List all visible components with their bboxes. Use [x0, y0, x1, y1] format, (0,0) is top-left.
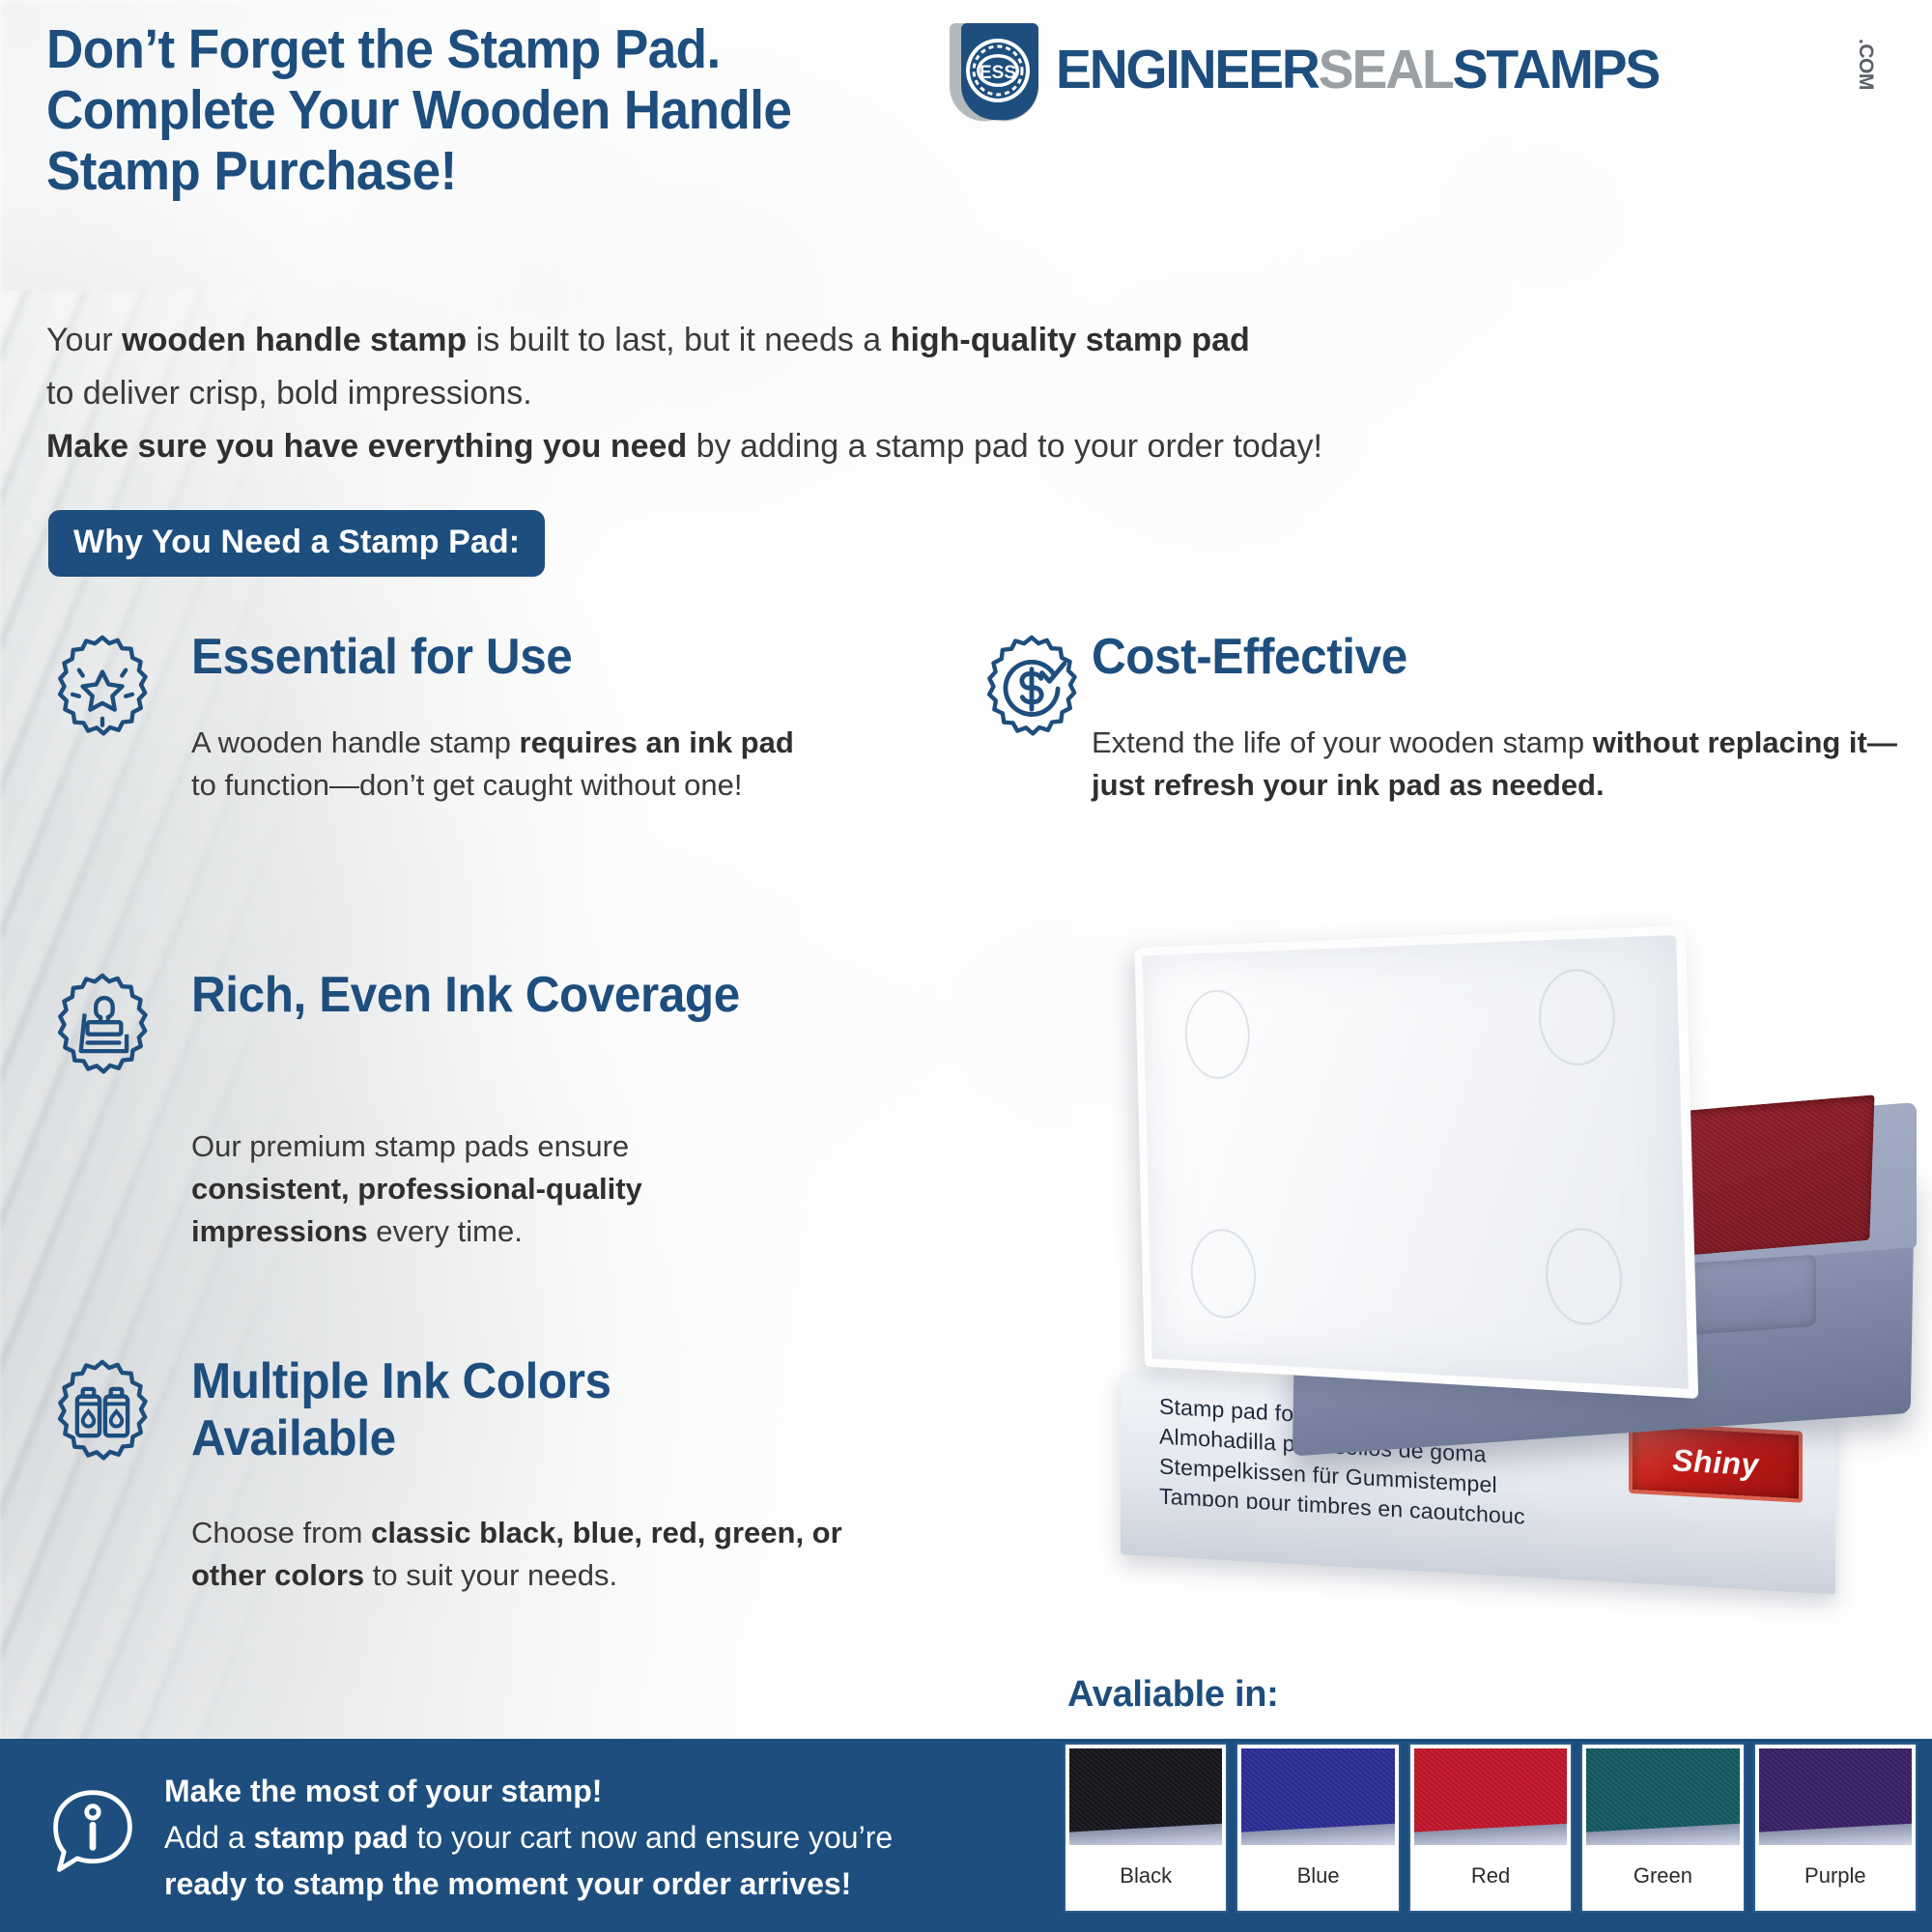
swatch-color-chip	[1586, 1748, 1739, 1845]
logo-wordmark: ENGINEERSEALSTAMPS	[1056, 41, 1659, 99]
feature-body: A wooden handle stamp requires an ink pa…	[191, 722, 819, 807]
feature-body-text-2: to function—don’t get caught without one…	[191, 768, 742, 802]
intro-text-2: is built to last, but it needs a	[467, 322, 890, 358]
lid-dimple	[1545, 1227, 1623, 1326]
cta-line-1: Make the most of your stamp!	[164, 1768, 1034, 1814]
shiny-brand-logo: Shiny	[1629, 1422, 1803, 1503]
lid-dimple	[1190, 1228, 1257, 1320]
ink-bottles-badge-icon	[46, 1357, 158, 1469]
lid-dimple	[1538, 968, 1616, 1065]
cta-strong: stamp pad	[254, 1820, 409, 1855]
lid-dimple	[1184, 989, 1251, 1079]
star-badge-icon	[46, 633, 158, 745]
swatch-color-chip	[1759, 1748, 1912, 1845]
dollar-check-badge-icon	[976, 633, 1088, 745]
intro-text-3: to deliver crisp, bold impressions.	[46, 375, 532, 412]
swatch-red[interactable]: Red	[1410, 1745, 1571, 1911]
why-you-need-badge: Why You Need a Stamp Pad:	[48, 510, 545, 577]
intro-text-1: Your	[46, 322, 122, 358]
feature-body: Extend the life of your wooden stamp wit…	[1092, 722, 1903, 807]
cta-line-2: Add a stamp pad to your cart now and ens…	[164, 1814, 1034, 1861]
logo-tld: .COM	[1854, 39, 1877, 90]
feature-body: Choose from classic black, blue, red, gr…	[191, 1512, 858, 1597]
feature-body-text-2: to suit your needs.	[364, 1558, 617, 1592]
swatch-label: Blue	[1241, 1845, 1394, 1907]
feature-body-text-1: Choose from	[191, 1516, 371, 1549]
cta-line-3: ready to stamp the moment your order arr…	[164, 1861, 1034, 1907]
cta-text-b: to your cart now and ensure you’re	[409, 1820, 894, 1855]
feature-body-text-1: A wooden handle stamp	[191, 725, 520, 759]
swatch-label: Green	[1586, 1845, 1739, 1907]
intro-strong-3: Make sure you have everything you need	[46, 428, 687, 465]
brand-logo[interactable]: ESS ENGINEERSEALSTAMPS .COM	[942, 17, 1918, 124]
feature-title: Rich, Even Ink Coverage	[191, 967, 760, 1024]
swatch-color-chip	[1414, 1748, 1567, 1845]
swatch-label: Purple	[1759, 1845, 1912, 1907]
intro-paragraph: Your wooden handle stamp is built to las…	[46, 314, 1766, 473]
stamp-pad-open-lid	[1134, 925, 1698, 1399]
info-bubble-icon	[46, 1785, 139, 1878]
feature-body-strong-1: requires an ink pad	[520, 725, 794, 759]
swatch-color-chip	[1241, 1748, 1394, 1845]
rubber-stamp-badge-icon	[46, 971, 158, 1083]
intro-strong-1: wooden handle stamp	[122, 322, 467, 358]
logo-word-engineer: ENGINEER	[1056, 39, 1319, 100]
headline-line-1: Don’t Forget the Stamp Pad.	[46, 19, 990, 80]
feature-body-text-2: every time.	[368, 1214, 523, 1248]
feature-title: Cost-Effective	[1092, 629, 1407, 686]
swatch-color-chip	[1069, 1748, 1222, 1845]
feature-body-text-1: Our premium stamp pads ensure	[191, 1129, 629, 1163]
cta-text-block: Make the most of your stamp! Add a stamp…	[164, 1768, 1034, 1907]
cta-text-a: Add a	[164, 1820, 254, 1855]
infographic-page: Don’t Forget the Stamp Pad. Complete You…	[0, 0, 1932, 1932]
swatch-label: Red	[1414, 1845, 1567, 1907]
product-photo: S·S Stamp pad for rubber stamps Almohadi…	[1101, 942, 1903, 1657]
swatch-green[interactable]: Green	[1582, 1745, 1743, 1911]
swatch-purple[interactable]: Purple	[1755, 1745, 1916, 1911]
svg-text:ESS: ESS	[980, 63, 1016, 83]
logo-word-seal: SEAL	[1319, 39, 1453, 100]
feature-body-text-1: Extend the life of your wooden stamp	[1092, 725, 1593, 759]
available-in-title: Avaliable in:	[1067, 1674, 1279, 1716]
intro-text-4: by adding a stamp pad to your order toda…	[687, 428, 1322, 465]
swatch-black[interactable]: Black	[1065, 1745, 1226, 1911]
headline-line-2: Complete Your Wooden Handle	[46, 80, 990, 141]
feature-body: Our premium stamp pads ensure consistent…	[191, 1125, 781, 1253]
intro-strong-2: high-quality stamp pad	[891, 322, 1250, 358]
ess-gear-badge-icon: ESS	[942, 17, 1046, 122]
page-title: Don’t Forget the Stamp Pad. Complete You…	[46, 19, 990, 202]
swatch-blue[interactable]: Blue	[1237, 1745, 1398, 1911]
swatch-label: Black	[1069, 1845, 1222, 1907]
headline-line-3: Stamp Purchase!	[46, 141, 990, 202]
color-swatch-row: Black Blue Red Green Purple	[1065, 1745, 1916, 1911]
logo-word-stamps: STAMPS	[1453, 39, 1659, 100]
feature-title: Essential for Use	[191, 629, 572, 686]
feature-title: Multiple Ink Colors Available	[191, 1353, 779, 1467]
